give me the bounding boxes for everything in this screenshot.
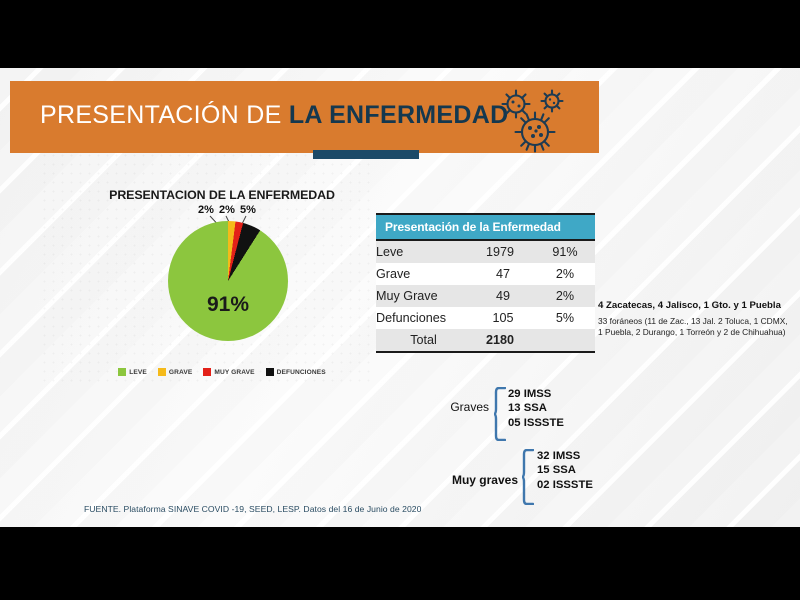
legend-swatch-leve	[118, 368, 126, 376]
row-pct-muy-grave: 2%	[535, 285, 595, 307]
legend-swatch-defunciones	[266, 368, 274, 376]
side-annotation-title: 4 Zacatecas, 4 Jalisco, 1 Gto. y 1 Puebl…	[598, 300, 794, 312]
legend-item-leve: LEVE	[118, 368, 147, 376]
muy-graves-item-issste: 02 ISSSTE	[537, 478, 593, 492]
row-label-grave: Grave	[376, 263, 471, 285]
slice-label-muygrave: 2%	[219, 204, 235, 216]
page-title-light: PRESENTACIÓN DE	[40, 101, 289, 129]
table-header: Presentación de la Enfermedad	[376, 215, 595, 241]
row-value-total: 2180	[471, 329, 535, 351]
graves-bracket-label: Graves	[429, 400, 489, 414]
row-value-muy-grave: 49	[471, 285, 535, 307]
graves-item-issste: 05 ISSSTE	[508, 416, 564, 430]
pie-center-percent-label: 91%	[168, 293, 288, 317]
legend-label-leve: LEVE	[129, 369, 147, 376]
video-letterbox-viewport: PRESENTACIÓN DE LA ENFERMEDAD	[0, 0, 800, 600]
pie-chart-block: PRESENTACION DE LA ENFERMEDAD 2% 2% 5% 9…	[70, 188, 370, 403]
legend-item-muy-grave: MUY GRAVE	[203, 368, 254, 376]
table-row: Defunciones 105 5%	[376, 307, 595, 329]
muy-graves-bracket-label: Muy graves	[440, 473, 518, 487]
muy-graves-item-ssa: 15 SSA	[537, 463, 593, 477]
legend-swatch-muy-grave	[203, 368, 211, 376]
table-row: Leve 1979 91%	[376, 241, 595, 263]
legend-item-grave: GRAVE	[158, 368, 192, 376]
source-footnote: FUENTE. Plataforma SINAVE COVID -19, SEE…	[84, 504, 421, 514]
row-pct-grave: 2%	[535, 263, 595, 285]
side-annotation: 4 Zacatecas, 4 Jalisco, 1 Gto. y 1 Puebl…	[598, 300, 794, 338]
slide-header-banner: PRESENTACIÓN DE LA ENFERMEDAD	[10, 81, 599, 153]
header-accent-underline	[313, 150, 419, 159]
row-label-muy-grave: Muy Grave	[376, 285, 471, 307]
table-row: Muy Grave 49 2%	[376, 285, 595, 307]
presentation-data-table: Presentación de la Enfermedad Leve 1979 …	[376, 213, 595, 353]
table-row: Grave 47 2%	[376, 263, 595, 285]
table-total-row: Total 2180	[376, 329, 595, 351]
slice-label-grave: 2%	[198, 204, 214, 216]
chart-legend: LEVE GRAVE MUY GRAVE DEFUNCIONES	[84, 368, 360, 376]
legend-label-muy-grave: MUY GRAVE	[214, 369, 254, 376]
page-title: PRESENTACIÓN DE LA ENFERMEDAD	[40, 101, 508, 130]
presentation-slide: PRESENTACIÓN DE LA ENFERMEDAD	[0, 68, 800, 527]
graves-bracket-items: 29 IMSS 13 SSA 05 ISSSTE	[508, 387, 564, 430]
row-value-leve: 1979	[471, 241, 535, 263]
row-label-leve: Leve	[376, 241, 471, 263]
muy-graves-brace-icon	[522, 449, 534, 510]
row-value-grave: 47	[471, 263, 535, 285]
coronavirus-cluster-icon	[495, 87, 581, 153]
legend-swatch-grave	[158, 368, 166, 376]
row-value-defunciones: 105	[471, 307, 535, 329]
graves-brace-icon	[494, 387, 506, 446]
side-annotation-body: 33 foráneos (11 de Zac., 13 Jal. 2 Toluc…	[598, 316, 794, 338]
page-title-bold: LA ENFERMEDAD	[289, 101, 509, 129]
chart-title: PRESENTACION DE LA ENFERMEDAD	[82, 188, 362, 202]
row-label-total: Total	[376, 329, 471, 351]
graves-item-ssa: 13 SSA	[508, 401, 564, 415]
muy-graves-bracket-items: 32 IMSS 15 SSA 02 ISSSTE	[537, 449, 593, 492]
graves-item-imss: 29 IMSS	[508, 387, 564, 401]
muy-graves-item-imss: 32 IMSS	[537, 449, 593, 463]
legend-label-grave: GRAVE	[169, 369, 192, 376]
legend-label-defunciones: DEFUNCIONES	[277, 369, 326, 376]
row-pct-leve: 91%	[535, 241, 595, 263]
legend-item-defunciones: DEFUNCIONES	[266, 368, 326, 376]
row-pct-total	[535, 329, 595, 351]
slice-label-defunciones: 5%	[240, 204, 256, 216]
pie-chart: 91%	[168, 221, 288, 341]
pie-slices	[168, 221, 288, 341]
row-pct-defunciones: 5%	[535, 307, 595, 329]
row-label-defunciones: Defunciones	[376, 307, 471, 329]
